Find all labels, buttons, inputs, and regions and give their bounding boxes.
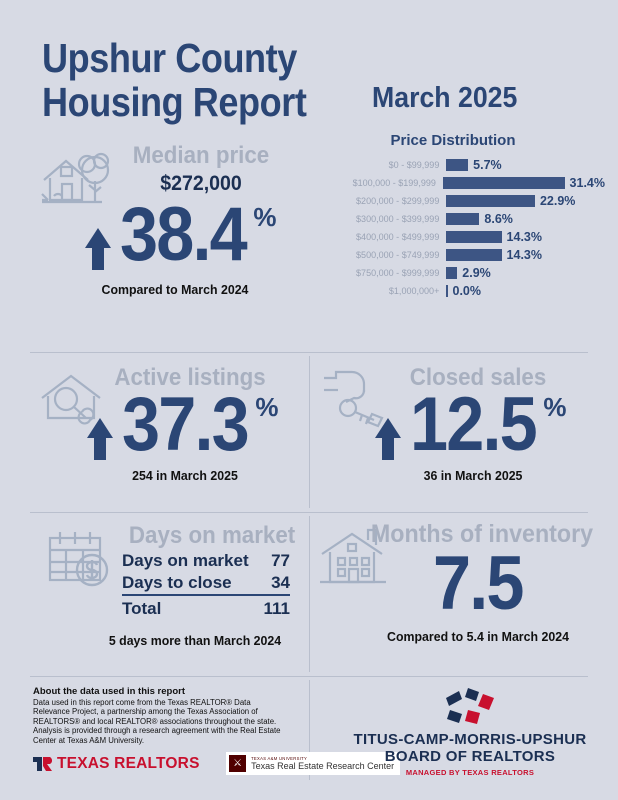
housing-report-infographic: Upshur County Housing Report March 2025 …	[0, 0, 618, 800]
chart-bar-label: $400,000 - $499,999	[341, 232, 446, 243]
chart-bar	[446, 231, 502, 243]
percent-sign: %	[255, 392, 278, 423]
report-period: March 2025	[372, 82, 517, 115]
arrow-up-icon	[85, 228, 111, 248]
row-label: Days to close	[122, 572, 261, 595]
texas-realtors-logo: TEXAS REALTORS	[33, 755, 200, 773]
months-of-inventory-block: Months of inventory 7.5 Compared to 5.4 …	[318, 520, 608, 644]
median-price-footnote: Compared to March 2024	[37, 282, 313, 297]
texas-realtors-mark-icon	[33, 755, 52, 772]
closed-sales-footnote: 36 in March 2025	[354, 468, 592, 483]
tamu-seal-icon: ⚔	[229, 755, 246, 772]
chart-bar-label: $500,000 - $749,999	[341, 250, 446, 261]
about-data-body: Data used in this report come from the T…	[33, 698, 285, 745]
chart-bar	[443, 177, 565, 189]
percent-sign: %	[253, 202, 276, 233]
chart-bar-value: 14.3%	[507, 230, 542, 244]
chart-bar-wrap: 14.3%	[446, 248, 605, 262]
title-line-2: Housing Report	[42, 80, 306, 124]
chart-title: Price Distribution	[335, 132, 605, 149]
table-row: Days on market77	[122, 550, 290, 572]
board-emblem-icon	[432, 686, 508, 726]
divider-horizontal-2	[30, 512, 588, 513]
median-price-change: 38.4	[120, 198, 246, 272]
chart-bar	[446, 159, 468, 171]
chart-bar-row: $300,000 - $399,9998.6%	[335, 210, 605, 228]
closed-sales-block: Closed sales 12.5 % 36 in March 2025	[318, 364, 598, 483]
chart-bar-value: 14.3%	[507, 248, 542, 262]
active-listings-footnote: 254 in March 2025	[66, 468, 304, 483]
months-of-inventory-footnote: Compared to 5.4 in March 2024	[355, 629, 602, 644]
chart-bar-row: $750,000 - $999,9992.9%	[335, 264, 605, 282]
active-listings-change: 37.3	[122, 388, 248, 462]
chart-bar-value: 31.4%	[570, 176, 605, 190]
chart-bar-label: $200,000 - $299,999	[341, 196, 446, 207]
chart-bar-label: $300,000 - $399,999	[341, 214, 446, 225]
divider-horizontal-1	[30, 352, 588, 353]
months-of-inventory-value: 7.5	[433, 547, 523, 621]
chart-bar-row: $200,000 - $299,99922.9%	[335, 192, 605, 210]
title-line-1: Upshur County	[42, 35, 297, 81]
chart-bar-wrap: 22.9%	[446, 194, 605, 208]
chart-bar-row: $100,000 - $199,99931.4%	[335, 174, 605, 192]
board-of-realtors-logo: TITUS-CAMP-MORRIS-UPSHUR BOARD OF REALTO…	[330, 686, 610, 777]
active-listings-block: Active listings 37.3 % 254 in March 2025	[30, 364, 310, 483]
table-row-total: Total 111	[122, 595, 290, 620]
chart-bar-wrap: 0.0%	[446, 284, 605, 298]
chart-bar	[446, 213, 479, 225]
chart-bar-wrap: 5.7%	[446, 158, 605, 172]
report-header: Upshur County Housing Report March 2025	[0, 0, 618, 130]
chart-bar-value: 5.7%	[473, 158, 502, 172]
days-on-market-heading: Days on market	[129, 522, 313, 550]
chart-bar-value: 8.6%	[484, 212, 513, 226]
total-value: 111	[261, 595, 290, 620]
chart-bar	[446, 195, 535, 207]
days-on-market-table: Days on market77Days to close34 Total 11…	[122, 550, 290, 620]
chart-bar-wrap: 14.3%	[446, 230, 605, 244]
page-title: Upshur County Housing Report	[42, 36, 306, 124]
board-managed-by: MANAGED BY TEXAS REALTORS	[330, 768, 610, 777]
chart-bar-row: $400,000 - $499,99914.3%	[335, 228, 605, 246]
board-name-line-2: BOARD OF REALTORS	[330, 748, 610, 765]
days-on-market-block: Days on market Days on market77Days to c…	[30, 522, 320, 648]
median-price-block: Median price $272,000 38.4 % Compared to…	[30, 142, 320, 297]
divider-horizontal-3	[30, 676, 588, 677]
percent-sign: %	[543, 392, 566, 423]
row-value: 77	[261, 550, 290, 572]
chart-bar-row: $500,000 - $749,99914.3%	[335, 246, 605, 264]
chart-bars: $0 - $99,9995.7%$100,000 - $199,99931.4%…	[335, 156, 605, 300]
board-name-line-1: TITUS-CAMP-MORRIS-UPSHUR	[330, 731, 610, 748]
days-on-market-footnote: 5 days more than March 2024	[76, 633, 314, 648]
chart-bar-label: $1,000,000+	[341, 286, 446, 297]
chart-bar-row: $1,000,000+0.0%	[335, 282, 605, 300]
row-label: Days on market	[122, 550, 261, 572]
chart-bar-wrap: 31.4%	[443, 176, 605, 190]
chart-bar-row: $0 - $99,9995.7%	[335, 156, 605, 174]
chart-bar	[446, 249, 502, 261]
total-label: Total	[122, 595, 261, 620]
chart-bar	[446, 267, 457, 279]
price-distribution-chart: Price Distribution $0 - $99,9995.7%$100,…	[335, 132, 605, 300]
row-value: 34	[261, 572, 290, 595]
texas-realtors-label: TEXAS REALTORS	[57, 755, 200, 773]
chart-bar-label: $750,000 - $999,999	[341, 268, 446, 279]
chart-bar-label: $0 - $99,999	[341, 160, 446, 171]
median-price-heading: Median price	[90, 142, 311, 170]
chart-bar-value: 0.0%	[453, 284, 482, 298]
chart-bar-label: $100,000 - $199,999	[340, 178, 442, 189]
chart-bar-value: 2.9%	[462, 266, 491, 280]
chart-bar-value: 22.9%	[540, 194, 575, 208]
calendar-dollar-icon	[44, 528, 116, 590]
chart-bar	[446, 285, 448, 297]
arrow-up-icon	[87, 418, 113, 438]
chart-bar-wrap: 8.6%	[446, 212, 605, 226]
closed-sales-change: 12.5	[410, 388, 536, 462]
chart-bar-wrap: 2.9%	[446, 266, 605, 280]
about-data-title: About the data used in this report	[33, 686, 185, 697]
arrow-up-icon	[375, 418, 401, 438]
table-row: Days to close34	[122, 572, 290, 595]
